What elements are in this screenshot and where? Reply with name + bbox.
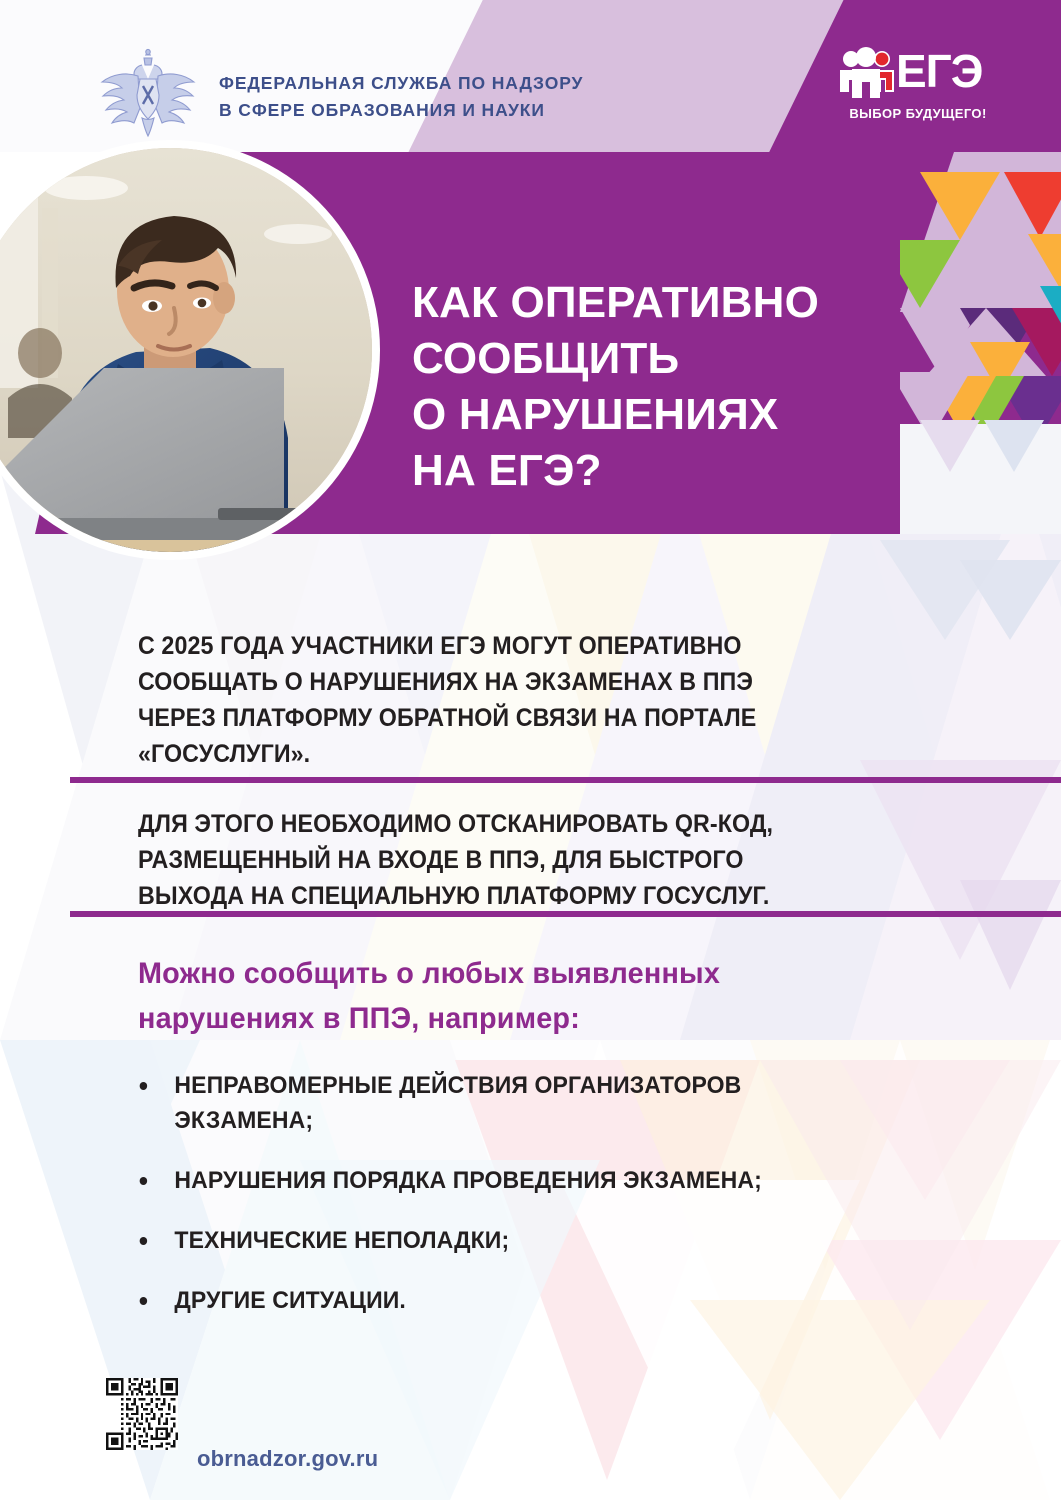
bullet-dot-icon	[140, 1082, 148, 1090]
page-header: ФЕДЕРАЛЬНАЯ СЛУЖБА ПО НАДЗОРУ В СФЕРЕ ОБ…	[0, 0, 1061, 152]
page-title-line1: КАК ОПЕРАТИВНО	[412, 275, 932, 331]
page-title: КАК ОПЕРАТИВНО СООБЩИТЬ О НАРУШЕНИЯХ НА …	[412, 275, 932, 499]
bullet-dot-icon	[140, 1237, 148, 1245]
subheading: Можно сообщить о любых выявленных наруше…	[138, 951, 868, 1041]
list-item: НАРУШЕНИЯ ПОРЯДКА ПРОВЕДЕНИЯ ЭКЗАМЕНА;	[134, 1163, 877, 1198]
list-item: ДРУГИЕ СИТУАЦИИ.	[134, 1283, 877, 1318]
divider-one	[70, 777, 1061, 783]
qr-code-icon[interactable]	[106, 1378, 178, 1450]
paragraph-two: ДЛЯ ЭТОГО НЕОБХОДИМО ОТСКАНИРОВАТЬ QR-КО…	[138, 806, 826, 914]
page-title-line4: НА ЕГЭ?	[412, 443, 932, 499]
paragraph-one-text: С 2025 ГОДА УЧАСТНИКИ ЕГЭ МОГУТ ОПЕРАТИВ…	[138, 628, 826, 772]
ege-people-icon	[838, 44, 896, 102]
bullet-dot-icon	[140, 1297, 148, 1305]
subheading-line1: Можно сообщить о любых выявленных	[138, 951, 868, 996]
double-headed-eagle-emblem-icon	[96, 48, 200, 140]
page-title-line2: СООБЩИТЬ	[412, 331, 932, 387]
list-item: ТЕХНИЧЕСКИЕ НЕПОЛАДКИ;	[134, 1223, 877, 1258]
agency-name-line2: В СФЕРЕ ОБРАЗОВАНИЯ И НАУКИ	[219, 97, 583, 124]
list-item-label: ДРУГИЕ СИТУАЦИИ.	[174, 1283, 876, 1318]
agency-name-line1: ФЕДЕРАЛЬНАЯ СЛУЖБА ПО НАДЗОРУ	[219, 70, 583, 97]
list-item-label: ТЕХНИЧЕСКИЕ НЕПОЛАДКИ;	[174, 1223, 876, 1258]
ege-logo: ЕГЭ ВЫБОР БУДУЩЕГО!	[838, 44, 998, 132]
site-url[interactable]: obrnadzor.gov.ru	[197, 1446, 378, 1472]
subheading-line2: нарушениях в ППЭ, например:	[138, 996, 868, 1041]
page-title-line3: О НАРУШЕНИЯХ	[412, 387, 932, 443]
divider-two	[70, 911, 1061, 917]
paragraph-one: С 2025 ГОДА УЧАСТНИКИ ЕГЭ МОГУТ ОПЕРАТИВ…	[138, 628, 826, 772]
list-item: НЕПРАВОМЕРНЫЕ ДЕЙСТВИЯ ОРГАНИЗАТОРОВ ЭКЗ…	[134, 1068, 877, 1138]
list-item-label: НЕПРАВОМЕРНЫЕ ДЕЙСТВИЯ ОРГАНИЗАТОРОВ ЭКЗ…	[174, 1068, 876, 1138]
violations-list: НЕПРАВОМЕРНЫЕ ДЕЙСТВИЯ ОРГАНИЗАТОРОВ ЭКЗ…	[134, 1068, 877, 1343]
bullet-dot-icon	[140, 1177, 148, 1185]
ege-logo-word: ЕГЭ	[896, 42, 982, 100]
agency-name: ФЕДЕРАЛЬНАЯ СЛУЖБА ПО НАДЗОРУ В СФЕРЕ ОБ…	[219, 70, 583, 124]
ege-logo-tagline: ВЫБОР БУДУЩЕГО!	[838, 106, 998, 121]
poster-root: ФЕДЕРАЛЬНАЯ СЛУЖБА ПО НАДЗОРУ В СФЕРЕ ОБ…	[0, 0, 1061, 1500]
list-item-label: НАРУШЕНИЯ ПОРЯДКА ПРОВЕДЕНИЯ ЭКЗАМЕНА;	[174, 1163, 876, 1198]
page-footer: obrnadzor.gov.ru	[0, 1370, 1061, 1480]
paragraph-two-text: ДЛЯ ЭТОГО НЕОБХОДИМО ОТСКАНИРОВАТЬ QR-КО…	[138, 806, 826, 914]
